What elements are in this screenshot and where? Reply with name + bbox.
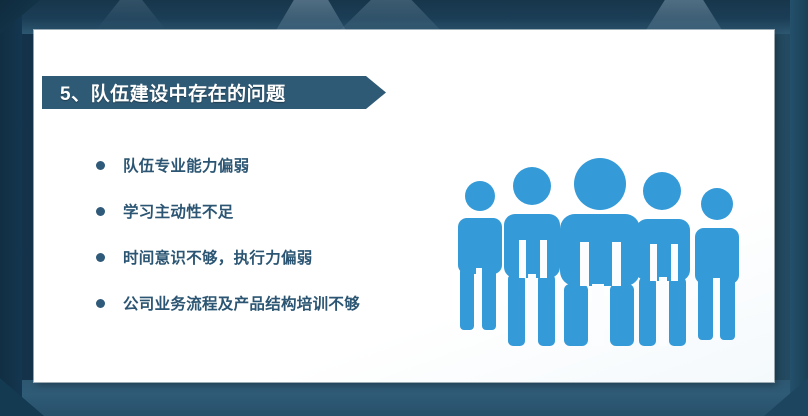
- bullet-dot-icon: [96, 161, 105, 170]
- list-item: 队伍专业能力偏弱: [96, 142, 360, 188]
- content-panel: 5、队伍建设中存在的问题 队伍专业能力偏弱 学习主动性不足 时间意识不够，执行力…: [34, 30, 774, 382]
- page-title: 5、队伍建设中存在的问题: [60, 79, 286, 106]
- list-item: 时间意识不够，执行力偏弱: [96, 234, 360, 280]
- bullet-list: 队伍专业能力偏弱 学习主动性不足 时间意识不够，执行力偏弱 公司业务流程及产品结…: [96, 142, 360, 326]
- person-figure-5: [695, 188, 739, 340]
- bullet-label: 时间意识不够，执行力偏弱: [123, 246, 313, 268]
- frame-right-edge: [790, 0, 808, 416]
- person-figure-3: [560, 158, 640, 346]
- frame-left-edge: [0, 0, 22, 416]
- bullet-dot-icon: [96, 299, 105, 308]
- bullet-dot-icon: [96, 207, 105, 216]
- list-item: 公司业务流程及产品结构培训不够: [96, 280, 360, 326]
- list-item: 学习主动性不足: [96, 188, 360, 234]
- people-group-icon: [452, 156, 752, 346]
- bullet-label: 学习主动性不足: [123, 200, 234, 222]
- background-bottom-band: [0, 380, 808, 416]
- person-figure-4: [636, 172, 690, 346]
- bullet-dot-icon: [96, 253, 105, 262]
- background-top-band: [0, 0, 808, 34]
- section-title-banner: 5、队伍建设中存在的问题: [42, 76, 386, 109]
- people-group-illustration: [452, 156, 752, 346]
- person-figure-2: [504, 167, 560, 346]
- presentation-slide: 5、队伍建设中存在的问题 队伍专业能力偏弱 学习主动性不足 时间意识不够，执行力…: [0, 0, 808, 416]
- bullet-label: 公司业务流程及产品结构培训不够: [123, 292, 360, 314]
- person-figure-1: [458, 181, 502, 330]
- bullet-label: 队伍专业能力偏弱: [123, 154, 249, 176]
